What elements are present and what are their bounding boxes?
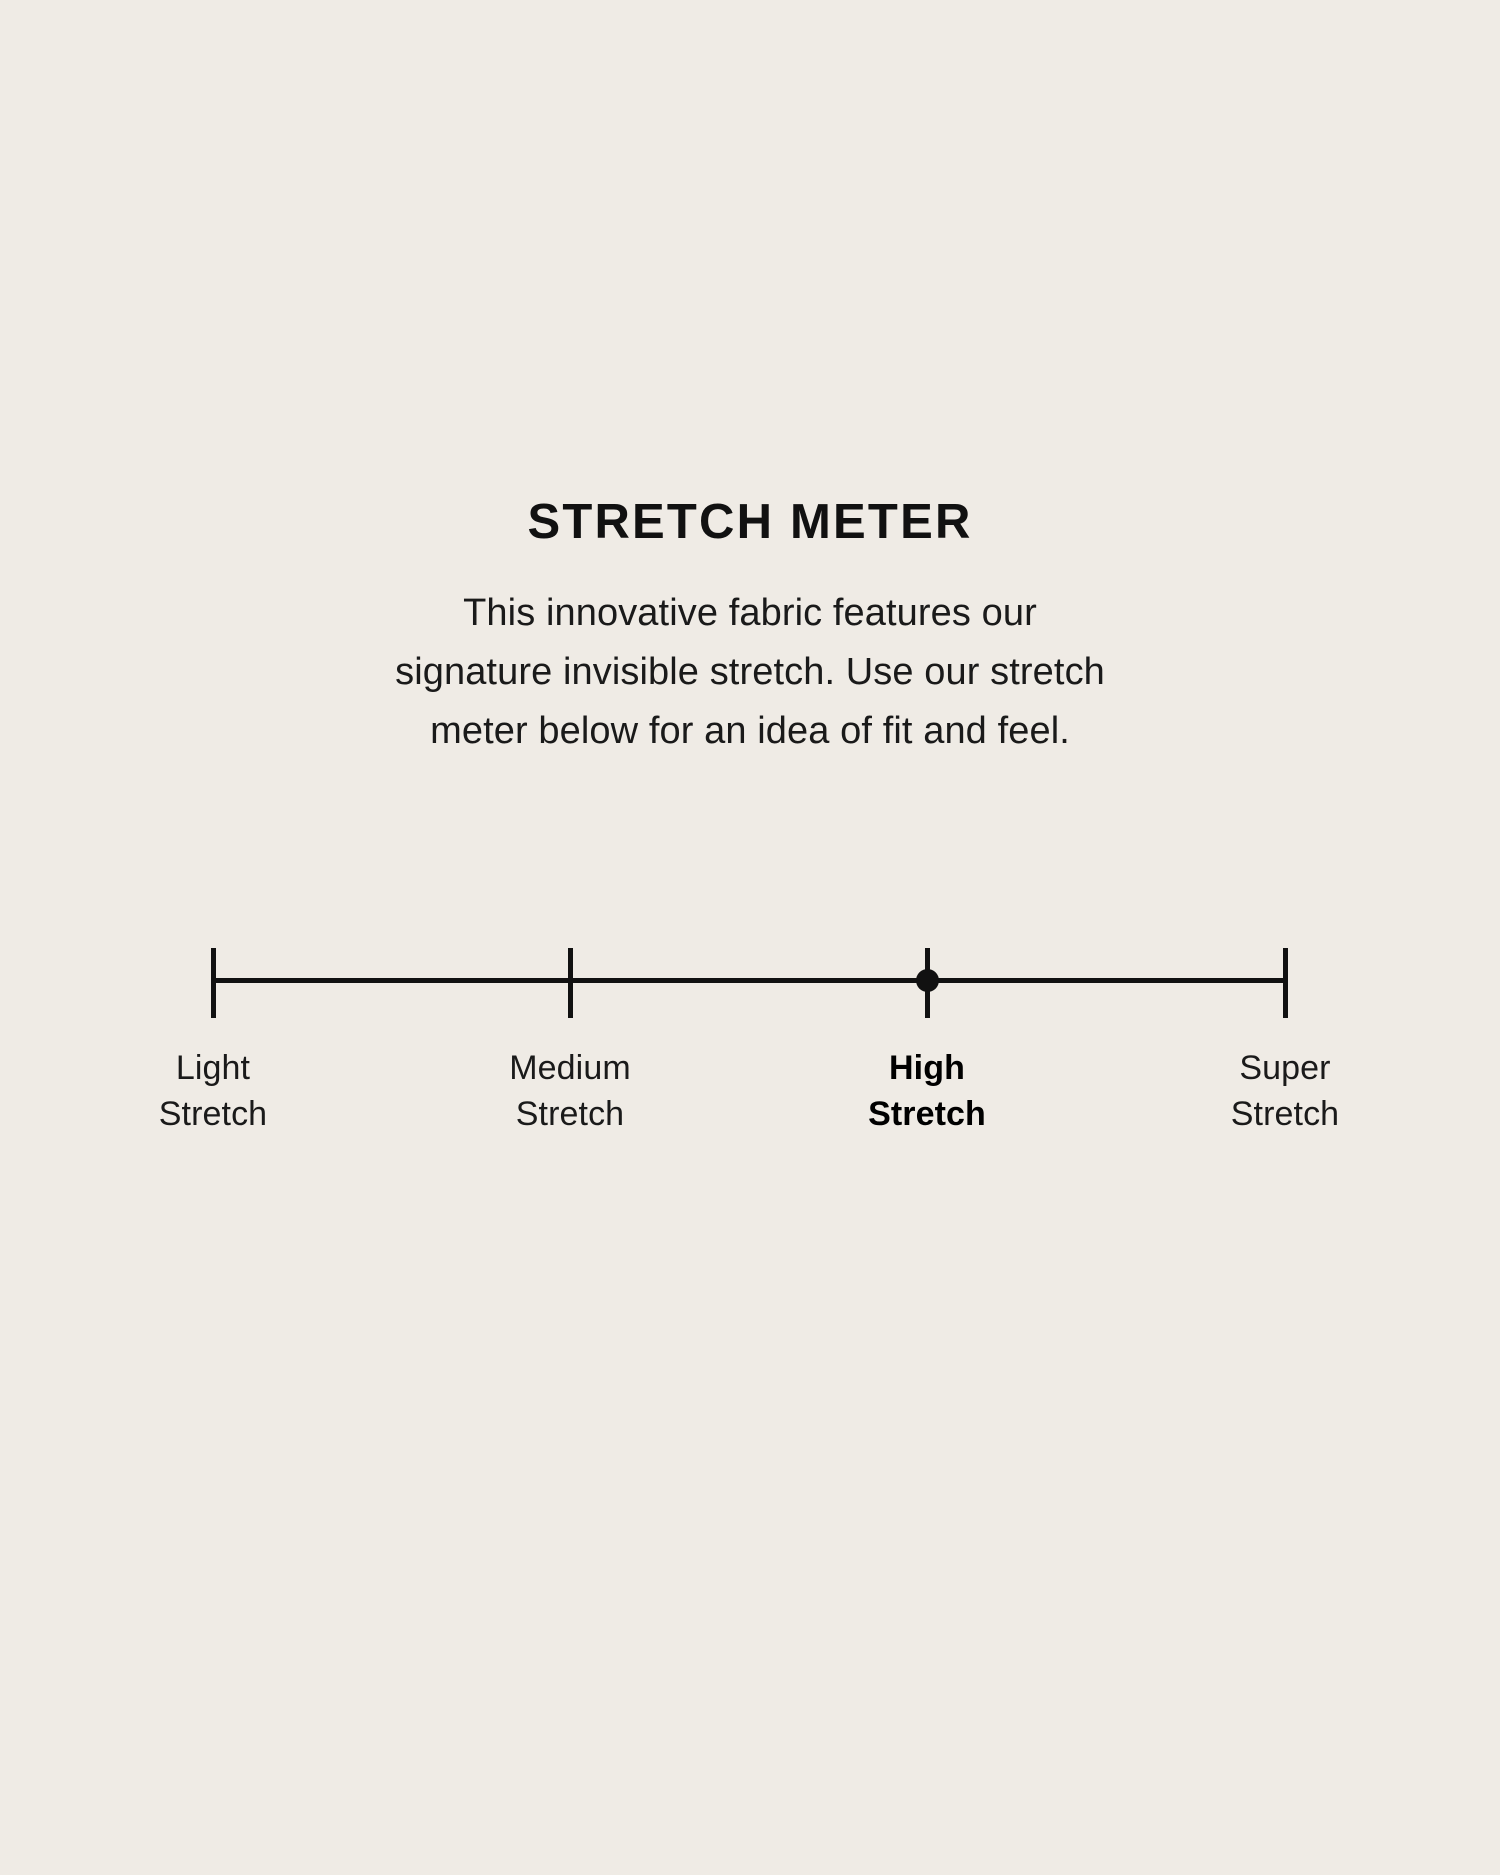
filled-circle-marker-icon bbox=[916, 969, 939, 992]
scale-labels: Light Stretch Medium Stretch High Stretc… bbox=[0, 1045, 1500, 1155]
scale-tick-medium[interactable] bbox=[568, 948, 573, 1018]
description-text: This innovative fabric features our sign… bbox=[0, 547, 1500, 761]
scale-label-light[interactable]: Light Stretch bbox=[63, 1045, 363, 1137]
scale-label-high[interactable]: High Stretch bbox=[777, 1045, 1077, 1137]
scale-label-super-line-1: Super bbox=[1135, 1045, 1435, 1091]
scale-label-super-line-2: Stretch bbox=[1135, 1091, 1435, 1137]
description-line-3: meter below for an idea of fit and feel. bbox=[0, 702, 1500, 761]
page-title: STRETCH METER bbox=[0, 498, 1500, 547]
scale-label-light-line-2: Stretch bbox=[63, 1091, 363, 1137]
description-line-2: signature invisible stretch. Use our str… bbox=[0, 643, 1500, 702]
scale-label-medium-line-1: Medium bbox=[420, 1045, 720, 1091]
scale-label-high-line-1: High bbox=[777, 1045, 1077, 1091]
scale-axis-line bbox=[213, 978, 1285, 983]
scale-label-high-line-2: Stretch bbox=[777, 1091, 1077, 1137]
scale-label-medium[interactable]: Medium Stretch bbox=[420, 1045, 720, 1137]
stretch-scale[interactable] bbox=[213, 948, 1285, 1018]
scale-label-super[interactable]: Super Stretch bbox=[1135, 1045, 1435, 1137]
scale-tick-light[interactable] bbox=[211, 948, 216, 1018]
scale-label-light-line-1: Light bbox=[63, 1045, 363, 1091]
scale-label-medium-line-2: Stretch bbox=[420, 1091, 720, 1137]
heading-block: STRETCH METER This innovative fabric fea… bbox=[0, 498, 1500, 761]
stretch-meter-panel: STRETCH METER This innovative fabric fea… bbox=[0, 0, 1500, 1875]
scale-tick-super[interactable] bbox=[1283, 948, 1288, 1018]
description-line-1: This innovative fabric features our bbox=[0, 584, 1500, 643]
